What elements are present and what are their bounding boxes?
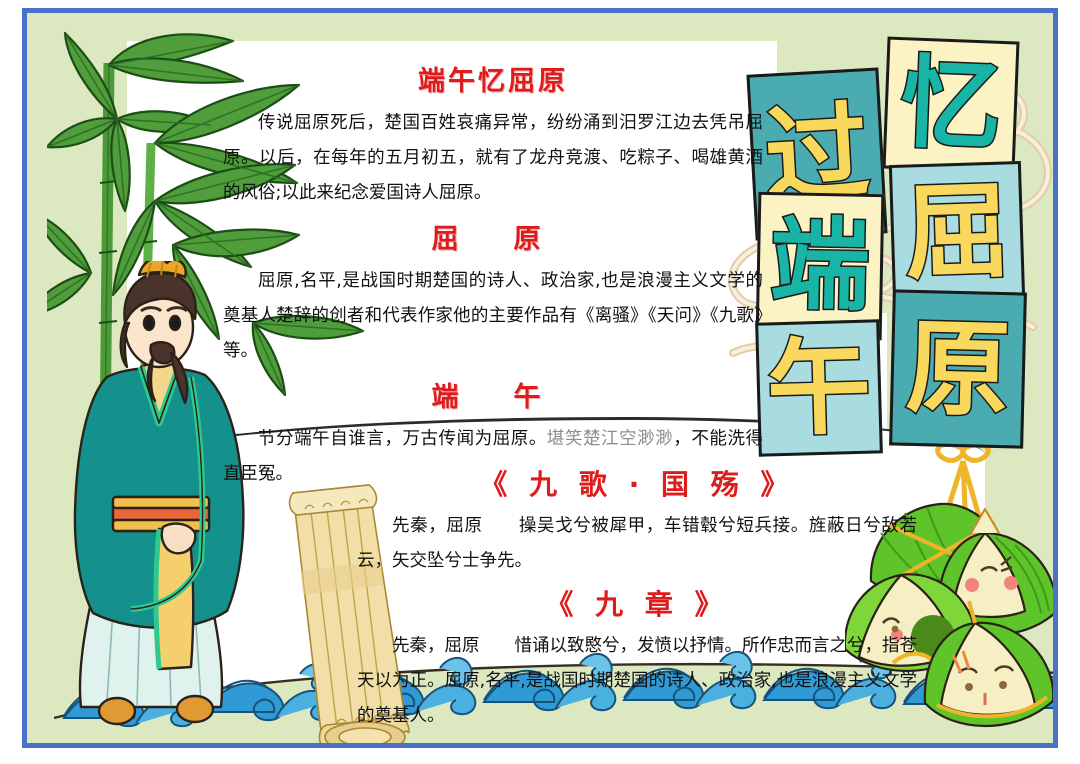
- heading-duanwu-yi-quyuan: 端午忆屈原: [223, 59, 763, 98]
- title-block-yuan[interactable]: 原: [889, 289, 1027, 448]
- article-top: 端午忆屈原 传说屈原死后，楚国百姓哀痛异常，纷纷涌到汨罗江边去凭吊屈原。以后，在…: [223, 53, 763, 494]
- poster-canvas: 过 端 午 忆 屈 原 端午忆屈原 传说屈原死后，楚国百姓哀痛异常，纷纷涌到汨罗…: [27, 13, 1053, 743]
- title-char-duan: 端: [769, 215, 871, 317]
- heading-jiuge-guoshang: 《 九 歌 · 国 殇 》: [357, 463, 917, 503]
- title-block-qu[interactable]: 屈: [889, 161, 1025, 303]
- author-jiuzhang: 先秦，屈原: [392, 636, 480, 656]
- heading-jiuzhang: 《 九 章 》: [357, 583, 917, 623]
- poem-part-faded: 堪笑楚江空渺渺: [547, 429, 673, 449]
- title-block-duan[interactable]: 端: [756, 192, 885, 340]
- paragraph-legend: 传说屈原死后，楚国百姓哀痛异常，纷纷涌到汨罗江边去凭吊屈原。以后，在每年的五月初…: [223, 106, 763, 211]
- handwritten-newspaper-poster: 过 端 午 忆 屈 原 端午忆屈原 传说屈原死后，楚国百姓哀痛异常，纷纷涌到汨罗…: [0, 0, 1080, 764]
- heading-duanwu: 端 午: [223, 375, 763, 414]
- poem-part-a: 节分端午自谁言，万古传闻为屈原。: [258, 429, 547, 449]
- title-char-yi: 忆: [899, 53, 1003, 157]
- paragraph-jiuzhang: 先秦，屈原 惜诵以致愍兮，发愤以抒情。所作忠而言之兮，指苍天以为正。屈原,名平,…: [357, 629, 917, 734]
- title-char-yuan: 原: [905, 316, 1012, 423]
- article-bottom: 《 九 歌 · 国 殇 》 先秦，屈原 操吴戈兮被犀甲，车错毂兮短兵接。旌蔽日兮…: [357, 459, 917, 736]
- title-char-qu: 屈: [903, 178, 1010, 285]
- title-block-yi[interactable]: 忆: [883, 37, 1020, 174]
- poster-title-blocks: 过 端 午 忆 屈 原: [749, 35, 1049, 437]
- heading-quyuan: 屈 原: [223, 217, 763, 256]
- author-jiuge: 先秦，屈原: [392, 516, 483, 536]
- title-char-wu: 午: [766, 335, 873, 442]
- title-block-wu[interactable]: 午: [755, 319, 883, 456]
- paragraph-quyuan-bio: 屈原,名平,是战国时期楚国的诗人、政治家,也是浪漫主义文学的奠基人楚辞的创者和代…: [223, 264, 763, 369]
- paragraph-jiuge: 先秦，屈原 操吴戈兮被犀甲，车错毂兮短兵接。旌蔽日兮敌若云，矢交坠兮士争先。: [357, 509, 917, 579]
